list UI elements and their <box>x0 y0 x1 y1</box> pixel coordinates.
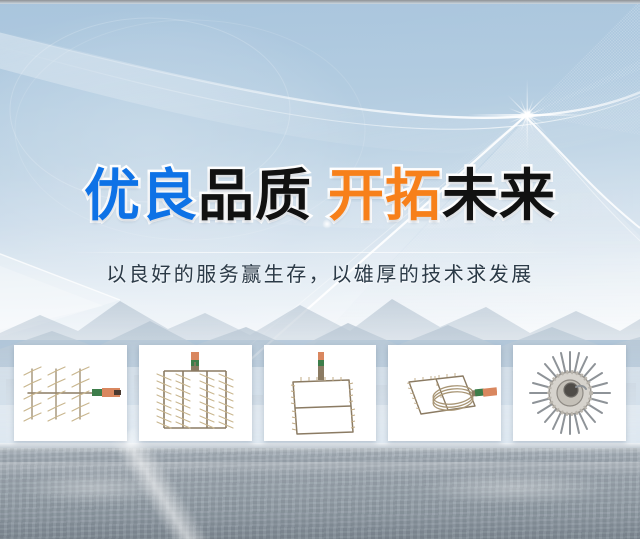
subtitle: 以良好的服务赢生存，以雄厚的技术求发展 <box>0 259 640 289</box>
product-card-3[interactable] <box>264 345 377 441</box>
ground-seam <box>0 443 640 448</box>
ring-frame-plating-rack-icon <box>393 358 497 428</box>
sunburst-plating-rack-icon <box>526 349 614 437</box>
frame-plating-rack-icon <box>279 350 361 436</box>
headline-segment-4: 未来 <box>442 166 556 228</box>
subtitle-divider <box>64 252 576 253</box>
headline-segment-1: 优良 <box>84 166 198 228</box>
headline: 优良品质开拓未来 <box>0 166 640 228</box>
product-card-4[interactable] <box>388 345 501 441</box>
promo-banner: 优良品质开拓未来 以良好的服务赢生存，以雄厚的技术求发展 <box>0 0 640 539</box>
comb-tooth-plating-rack-icon <box>18 353 122 433</box>
headline-segment-2: 品质 <box>198 166 312 228</box>
ground-reflection-right <box>420 470 610 506</box>
top-edge-strip <box>0 0 640 4</box>
lens-flare-star-icon <box>527 115 528 116</box>
product-card-1[interactable] <box>14 345 127 441</box>
double-row-plating-rack-icon <box>152 350 238 436</box>
ground-reflection-left <box>20 470 170 506</box>
product-thumbnail-strip <box>14 345 626 441</box>
product-card-5[interactable] <box>513 345 626 441</box>
product-card-2[interactable] <box>139 345 252 441</box>
headline-segment-3: 开拓 <box>328 166 442 228</box>
